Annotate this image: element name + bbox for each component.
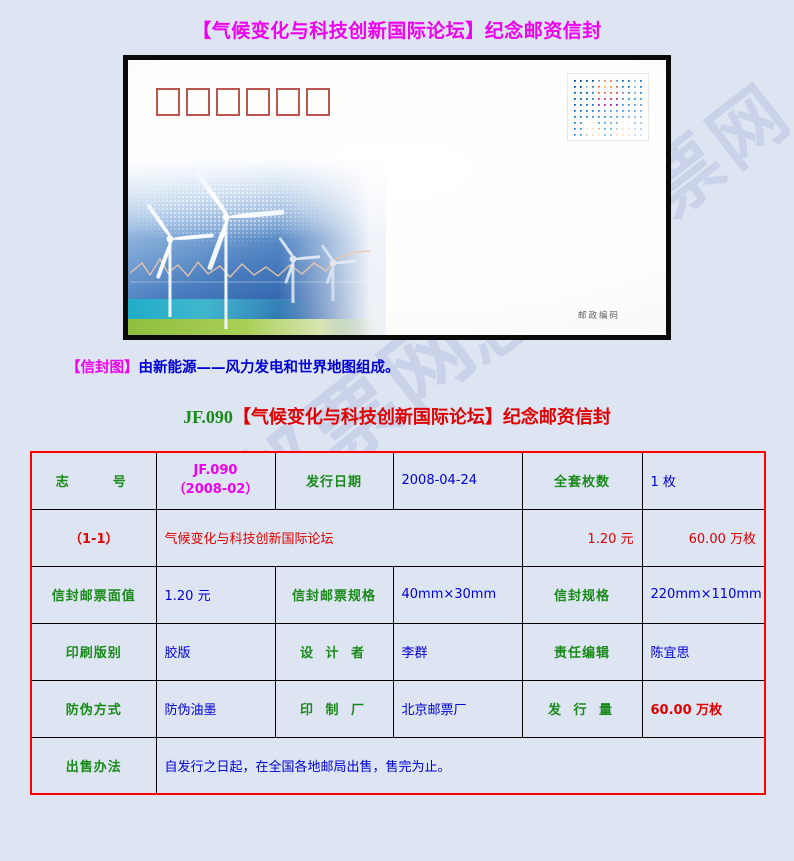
postcode-boxes bbox=[156, 88, 330, 116]
stamp-face: 1.20 P.R.CHINA 中国邮政 bbox=[571, 77, 645, 137]
wind-turbine-icon bbox=[146, 239, 194, 317]
postcode-box bbox=[246, 88, 270, 116]
artwork-grass-band bbox=[128, 319, 386, 335]
table-row: 防伪方式 防伪油墨 印 制 厂 北京邮票厂 发 行 量 60.00 万枚 bbox=[31, 680, 765, 737]
postcode-box bbox=[306, 88, 330, 116]
cell-label-set-count: 全套枚数 bbox=[522, 452, 642, 509]
caption-text: 由新能源——风力发电和世界地图组成。 bbox=[139, 360, 400, 376]
cell-label-printing-method: 印刷版别 bbox=[31, 623, 156, 680]
cell-value-printer: 北京邮票厂 bbox=[393, 680, 522, 737]
cell-label-issue-quantity: 发 行 量 bbox=[522, 680, 642, 737]
cell-value-stamp-face-value: 1.20 元 bbox=[156, 566, 275, 623]
cell-value-printing-method: 胶版 bbox=[156, 623, 275, 680]
cell-label-sale-method: 出售办法 bbox=[31, 737, 156, 794]
cell-label-issue-code: 志 号 bbox=[31, 452, 156, 509]
cell-label-envelope-size: 信封规格 bbox=[522, 566, 642, 623]
envelope-image: 气候变化与科技创新国际论坛 INTERNATIONAL FORUM ON CLI… bbox=[123, 55, 671, 340]
postage-stamp: 1.20 P.R.CHINA 中国邮政 bbox=[568, 74, 648, 140]
envelope-caption: 【信封图】由新能源——风力发电和世界地图组成。 bbox=[0, 356, 794, 377]
envelope-image-container: 气候变化与科技创新国际论坛 INTERNATIONAL FORUM ON CLI… bbox=[0, 55, 794, 340]
spec-title-code: JF.090 bbox=[183, 407, 233, 427]
cell-label-stamp-face-value: 信封邮票面值 bbox=[31, 566, 156, 623]
caption-bracket: 【信封图】 bbox=[66, 360, 139, 376]
wind-turbine-icon bbox=[276, 259, 310, 303]
page-root: 【气候变化与科技创新国际论坛】纪念邮资信封 气候变化与科技创新国际论坛 INTE… bbox=[0, 0, 794, 795]
cell-value-set-count: 1 枚 bbox=[642, 452, 765, 509]
spec-title-text: 【气候变化与科技创新国际论坛】纪念邮资信封 bbox=[233, 407, 611, 428]
cell-label-anticounterfeit: 防伪方式 bbox=[31, 680, 156, 737]
postcode-box bbox=[186, 88, 210, 116]
cell-item-name: 气候变化与科技创新国际论坛 bbox=[156, 509, 522, 566]
envelope-artwork-wind-turbines bbox=[128, 160, 386, 335]
table-row: 信封邮票面值 1.20 元 信封邮票规格 40mm×30mm 信封规格 220m… bbox=[31, 566, 765, 623]
cell-value-issue-quantity: 60.00 万枚 bbox=[642, 680, 765, 737]
table-row: 印刷版别 胶版 设 计 者 李群 责任编辑 陈宜思 bbox=[31, 623, 765, 680]
cell-value-envelope-size: 220mm×110mm bbox=[642, 566, 765, 623]
issue-code-main: JF.090 bbox=[165, 462, 267, 481]
page-title: 【气候变化与科技创新国际论坛】纪念邮资信封 bbox=[0, 0, 794, 43]
cell-value-designer: 李群 bbox=[393, 623, 522, 680]
wind-turbine-icon bbox=[318, 263, 348, 301]
table-row: （1-1） 气候变化与科技创新国际论坛 1.20 元 60.00 万枚 bbox=[31, 509, 765, 566]
spec-title: JF.090【气候变化与科技创新国际论坛】纪念邮资信封 bbox=[0, 403, 794, 429]
table-row: 志 号 JF.090 （2008-02） 发行日期 2008-04-24 全套枚… bbox=[31, 452, 765, 509]
spec-table: 志 号 JF.090 （2008-02） 发行日期 2008-04-24 全套枚… bbox=[30, 451, 766, 795]
cell-value-issue-code: JF.090 （2008-02） bbox=[156, 452, 275, 509]
envelope-postcode-label: 邮政编码 bbox=[578, 309, 620, 321]
cell-label-stamp-size: 信封邮票规格 bbox=[275, 566, 393, 623]
issue-code-sub: （2008-02） bbox=[165, 481, 267, 500]
cell-label-printer: 印 制 厂 bbox=[275, 680, 393, 737]
postcode-box bbox=[276, 88, 300, 116]
hand-icon-left bbox=[582, 116, 602, 137]
wind-turbine-icon bbox=[196, 217, 256, 329]
turbine-tower bbox=[225, 217, 228, 329]
cell-value-editor: 陈宜思 bbox=[642, 623, 765, 680]
cell-item-number: （1-1） bbox=[31, 509, 156, 566]
cell-label-editor: 责任编辑 bbox=[522, 623, 642, 680]
cell-label-designer: 设 计 者 bbox=[275, 623, 393, 680]
cell-value-issue-date: 2008-04-24 bbox=[393, 452, 522, 509]
postcode-box bbox=[156, 88, 180, 116]
cell-value-sale-method: 自发行之日起，在全国各地邮局出售，售完为止。 bbox=[156, 737, 765, 794]
spec-table-container: 志 号 JF.090 （2008-02） 发行日期 2008-04-24 全套枚… bbox=[0, 451, 794, 795]
cell-value-stamp-size: 40mm×30mm bbox=[393, 566, 522, 623]
postcode-box bbox=[216, 88, 240, 116]
cell-label-issue-date: 发行日期 bbox=[275, 452, 393, 509]
cell-value-anticounterfeit: 防伪油墨 bbox=[156, 680, 275, 737]
table-row: 出售办法 自发行之日起，在全国各地邮局出售，售完为止。 bbox=[31, 737, 765, 794]
cell-item-quantity: 60.00 万枚 bbox=[642, 509, 765, 566]
globe-icon bbox=[593, 80, 623, 110]
cell-item-face-value: 1.20 元 bbox=[522, 509, 642, 566]
